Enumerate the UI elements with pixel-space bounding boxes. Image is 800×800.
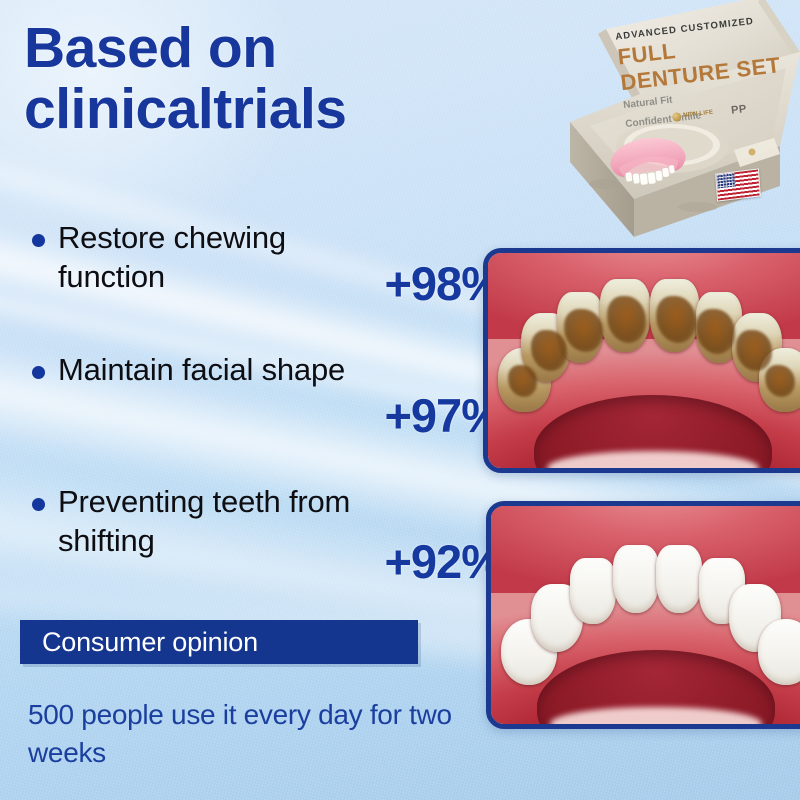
tooth <box>758 619 800 684</box>
benefit-list: Restore chewing function +98% Maintain f… <box>26 218 496 614</box>
logo-mark-icon <box>672 112 682 122</box>
advertisement-poster: Based on clinicaltrials <box>0 0 800 800</box>
list-item: Maintain facial shape +97% <box>26 350 496 482</box>
teeth-arch <box>488 253 800 468</box>
clean-teeth-photo <box>486 501 800 729</box>
headline-line-1: Based on <box>24 18 494 79</box>
stained-teeth-photo <box>483 248 800 473</box>
tooth <box>613 545 659 613</box>
teeth-arch <box>491 506 800 724</box>
photo-content <box>488 253 800 468</box>
benefit-percent: +92% <box>384 534 502 589</box>
headline-line-2: clinicaltrials <box>24 79 494 140</box>
footnote-text: 500 people use it every day for two week… <box>28 696 478 771</box>
benefit-label: Restore chewing function <box>58 218 388 297</box>
page-title: Based on clinicaltrials <box>24 18 494 140</box>
bullet-dot-icon <box>32 498 45 511</box>
tooth <box>570 558 616 623</box>
consumer-opinion-banner: Consumer opinion <box>20 620 418 664</box>
us-flag-icon <box>715 168 761 201</box>
flag-canton <box>716 172 735 188</box>
photo-content <box>491 506 800 724</box>
product-box-image: ADVANCED CUSTOMIZED FULL DENTURE SET Nat… <box>548 0 800 244</box>
brand-logo-label: NEW LIFE <box>683 110 714 119</box>
material-code-label: PP <box>731 103 748 117</box>
list-item: Preventing teeth from shifting +92% <box>26 482 496 614</box>
benefit-label: Preventing teeth from shifting <box>58 482 388 561</box>
bullet-dot-icon <box>32 234 45 247</box>
list-item: Restore chewing function +98% <box>26 218 496 350</box>
banner-label: Consumer opinion <box>20 627 258 658</box>
tooth <box>656 545 702 613</box>
denture-appliance <box>601 129 695 191</box>
benefit-label: Maintain facial shape <box>58 350 388 389</box>
bullet-dot-icon <box>32 366 45 379</box>
